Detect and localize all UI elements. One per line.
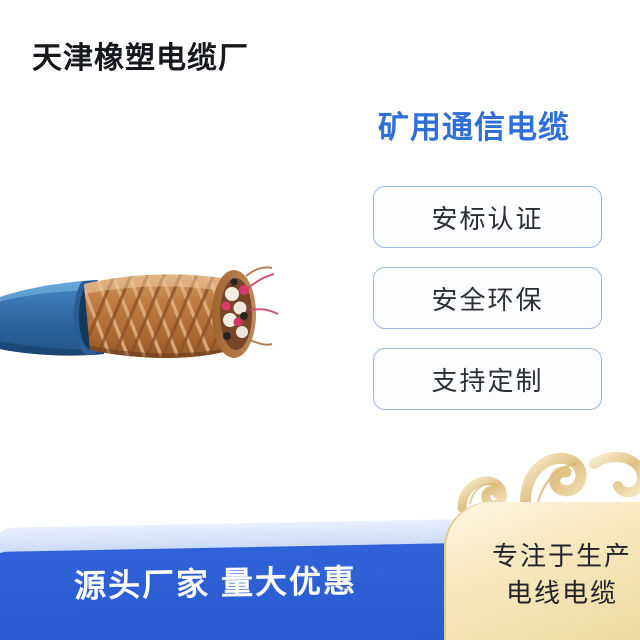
- gold-ribbon-banner: 专注于生产 电线电缆: [418, 446, 640, 640]
- gold-banner-text: 专注于生产 电线电缆: [472, 538, 640, 612]
- feature-pill-eco-safe[interactable]: 安全环保: [373, 267, 602, 329]
- feature-pill-customization[interactable]: 支持定制: [373, 348, 602, 410]
- blue-banner-text: 源头厂家 量大优惠: [30, 555, 401, 608]
- feature-pill-certification[interactable]: 安标认证: [373, 186, 602, 248]
- feature-pill-label: 安全环保: [431, 280, 543, 317]
- product-headline: 矿用通信电缆: [378, 102, 570, 147]
- cable-exposed-conductors: [212, 267, 278, 358]
- feature-pill-label: 安标认证: [431, 199, 543, 236]
- cable-illustration: [0, 250, 306, 390]
- feature-list: 安标认证 安全环保 支持定制: [373, 186, 602, 429]
- cable-product-image: [0, 250, 306, 390]
- gold-banner-line2: 电线电缆: [472, 575, 640, 612]
- company-name: 天津橡塑电缆厂: [32, 33, 249, 77]
- product-poster: 天津橡塑电缆厂 矿用通信电缆 安标认证 安全环保 支持定制: [0, 0, 640, 640]
- feature-pill-label: 支持定制: [431, 361, 543, 398]
- gold-banner-line1: 专注于生产: [472, 538, 640, 575]
